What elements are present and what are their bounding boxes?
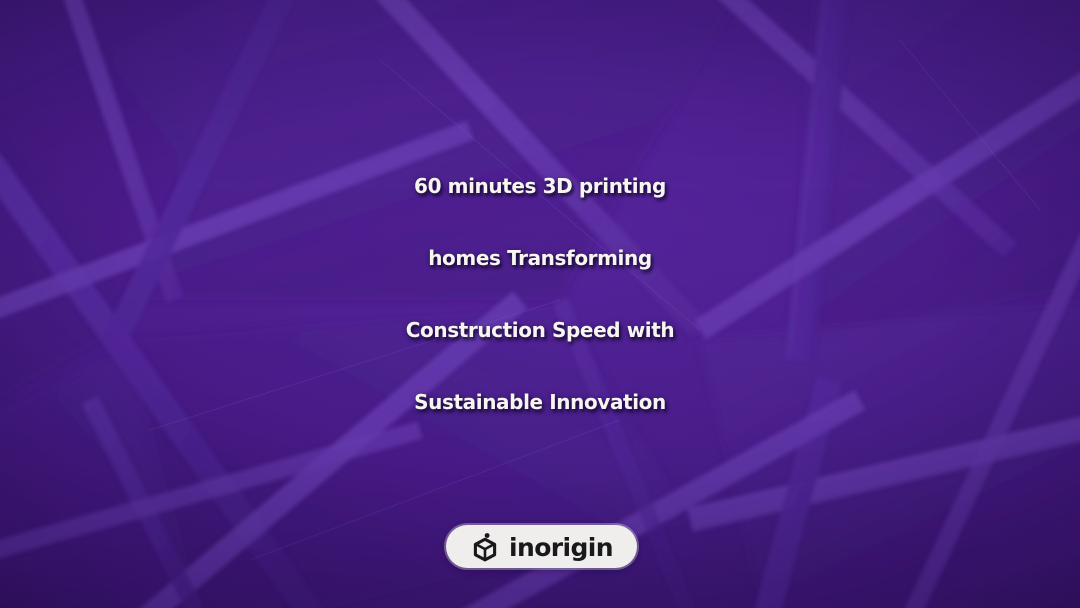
brand-logo-badge[interactable]: inorigin: [446, 525, 637, 568]
hexagon-cube-icon: [470, 532, 500, 562]
brand-wordmark: inorigin: [509, 535, 613, 560]
hero-card: 60 minutes 3D printing homes Transformin…: [0, 0, 1080, 608]
headline-line-2: homes Transforming: [40, 222, 1040, 294]
headline-line-1: 60 minutes 3D printing: [40, 150, 1040, 222]
headline-line-4: Sustainable Innovation: [40, 366, 1040, 438]
headline-line-3: Construction Speed with: [40, 294, 1040, 366]
page-title: 60 minutes 3D printing homes Transformin…: [40, 150, 1040, 438]
headline-block: 60 minutes 3D printing homes Transformin…: [0, 150, 1080, 438]
